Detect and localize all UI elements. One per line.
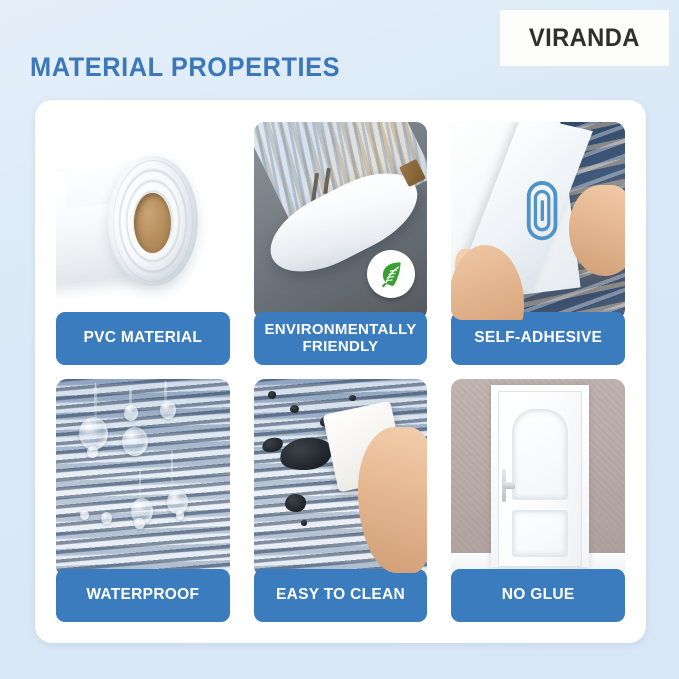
brand-logo: VIRANDA <box>500 10 669 66</box>
easy-to-clean-image <box>254 379 428 577</box>
paperclip-icon <box>523 177 561 244</box>
door <box>498 391 581 567</box>
tile-caption-no-glue: NO GLUE <box>451 569 625 622</box>
feature-tile-easy-to-clean[interactable]: EASY TO CLEAN <box>246 379 436 622</box>
tile-caption-environmentally-friendly: ENVIRONMENTALLY FRIENDLY <box>254 312 428 365</box>
tile-caption-pvc-material: PVC MATERIAL <box>56 312 230 365</box>
no-glue-image <box>451 379 625 577</box>
tile-caption-easy-to-clean: EASY TO CLEAN <box>254 569 428 622</box>
tile-caption-waterproof: WATERPROOF <box>56 569 230 622</box>
leaf-icon <box>377 260 406 289</box>
door-handle-icon <box>503 482 514 489</box>
self-adhesive-image <box>451 122 625 320</box>
feature-tile-waterproof[interactable]: WATERPROOF <box>48 379 238 622</box>
feature-tile-self-adhesive[interactable]: SELF-ADHESIVE <box>443 122 633 365</box>
eco-peel-image <box>254 122 428 320</box>
feature-tile-pvc-material[interactable]: PVC MATERIAL <box>48 122 238 365</box>
feature-tile-environmentally-friendly[interactable]: ENVIRONMENTALLY FRIENDLY <box>246 122 436 365</box>
feature-tile-no-glue[interactable]: NO GLUE <box>443 379 633 622</box>
feature-grid: PVC MATERIAL <box>48 122 633 622</box>
feature-card: PVC MATERIAL <box>35 100 646 643</box>
brand-logo-text: VIRANDA <box>529 24 640 53</box>
waterproof-image <box>56 379 230 577</box>
pvc-roll-image <box>56 122 230 320</box>
page-header: MATERIAL PROPERTIES VIRANDA <box>0 0 679 100</box>
page-title: MATERIAL PROPERTIES <box>30 52 340 83</box>
